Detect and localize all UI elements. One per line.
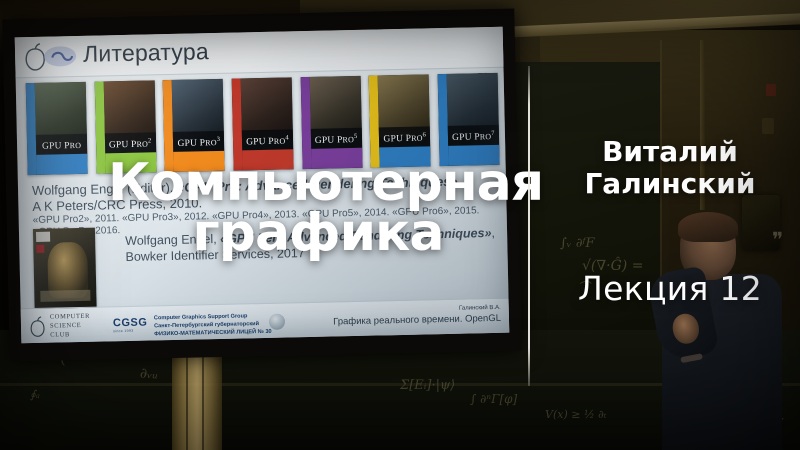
book-title-band — [40, 290, 90, 302]
cgsg-logo: CGSG since 1993 — [113, 317, 148, 334]
book-tag-red — [36, 245, 44, 253]
csc-line-1: COMPUTER — [50, 313, 90, 323]
lyceum-seal-icon — [269, 314, 285, 330]
apple-logo-icon — [29, 316, 46, 338]
presenter-first-name: Виталий — [545, 136, 795, 168]
footer-course: Графика реального времени. OpenGL — [333, 313, 501, 329]
cgsg-abbr: CGSG — [113, 317, 148, 330]
book-title: GPU PRO3 — [175, 136, 222, 149]
cgsg-line-3: ФИЗИКО-МАТЕМАТИЧЕСКИЙ ЛИЦЕЙ № 30 — [154, 328, 272, 339]
cgsg-year: since 1993 — [113, 329, 147, 334]
course-title-overlay: Компьютерная графика — [108, 158, 528, 259]
slide-title: Литература — [83, 38, 209, 68]
book-title: GPU PRO7 — [450, 130, 497, 143]
swirl-logo-icon — [43, 45, 77, 68]
book-title: GPU PRO — [38, 141, 85, 152]
wall-fixture — [766, 84, 776, 96]
cs-club-logo: COMPUTER SCIENCE CLUB — [29, 313, 91, 341]
gpu-zen-book-cover — [33, 228, 97, 311]
course-title-line-2: графика — [108, 208, 528, 258]
chalk-mark: ∂ᵥᵤ — [140, 366, 159, 383]
csc-line-3: CLUB — [50, 330, 90, 340]
presenter-last-name: Галинский — [545, 168, 795, 200]
footer-attribution: Галинский В.А. Графика реального времени… — [333, 305, 501, 329]
book-footer — [36, 154, 87, 175]
vertical-divider — [528, 66, 530, 386]
book-title: GPU PRO4 — [244, 134, 291, 147]
cgsg-description: Computer Graphics Support Group Санкт-Пе… — [154, 312, 272, 339]
chalk-mark: V(x) ≥ ½ ∂ₜ — [545, 408, 607, 421]
book-tag — [36, 232, 50, 242]
book-title: GPU PRO2 — [107, 137, 154, 150]
presenter-hand — [670, 312, 701, 346]
chalk-mark: ∫ ∂ⁿΓ[φ] — [470, 392, 517, 406]
presenter-name-overlay: Виталий Галинский — [545, 136, 795, 200]
cs-club-text: COMPUTER SCIENCE CLUB — [50, 313, 91, 340]
chalk-mark: ∮ₐ — [30, 388, 40, 401]
book-title: GPU PRO5 — [313, 133, 360, 146]
video-frame: ( ∂ᵥᵤ L = ∫ log ⟨r⟩, ∂ᵢ|ψ⟩ Σ[Eᵢ]·|ψ⟩ ∫ ∂… — [0, 0, 800, 450]
wall-marking: ❞ — [772, 228, 783, 252]
book-cover: GPU PRO — [26, 82, 88, 175]
presenter-hair — [678, 212, 738, 242]
book-title: GPU PRO6 — [381, 131, 428, 144]
wall-socket — [762, 118, 774, 134]
lecture-number-overlay: Лекция 12 — [545, 272, 795, 305]
